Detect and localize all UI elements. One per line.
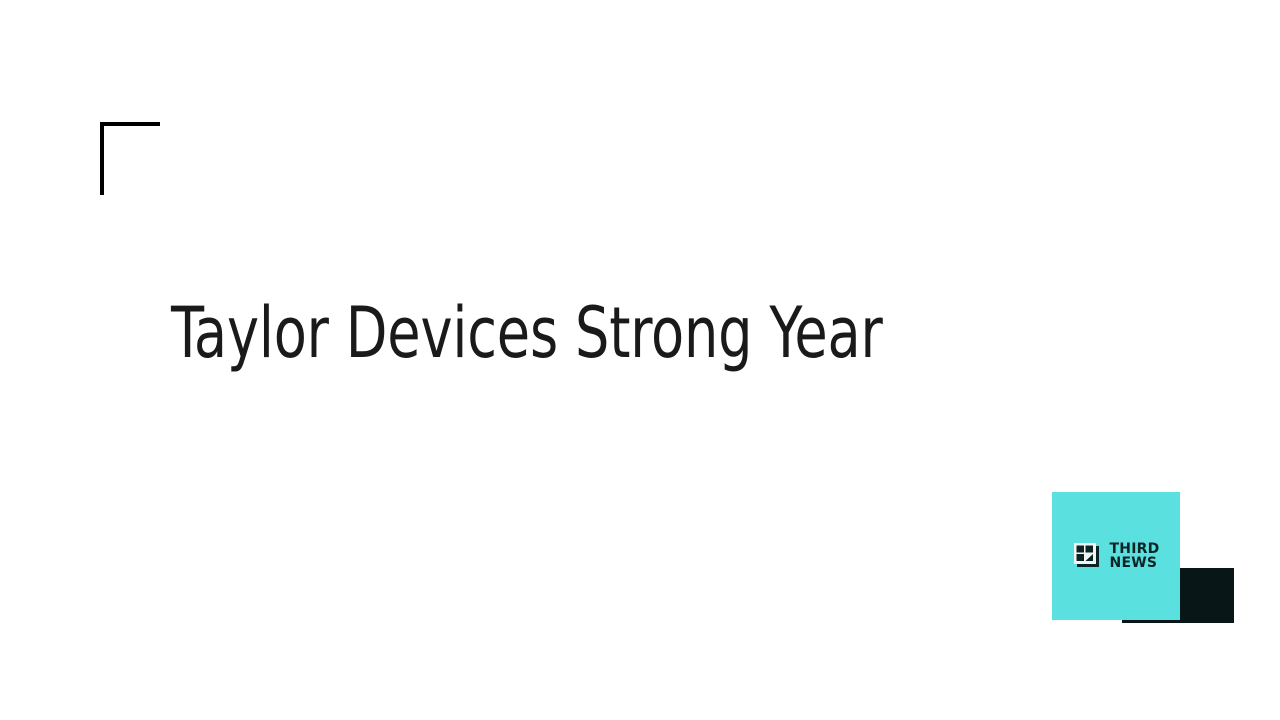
corner-bracket-decoration (100, 122, 160, 195)
slide-canvas: Taylor Devices Strong Year THIRD NEWS (0, 0, 1280, 720)
logo-content: THIRD NEWS (1052, 492, 1180, 620)
title-block: Taylor Devices Strong Year (171, 296, 1111, 372)
page-title: Taylor Devices Strong Year (171, 296, 979, 372)
logo-word-line1: THIRD (1110, 542, 1160, 556)
logo-badge: THIRD NEWS (1052, 492, 1180, 620)
logo-word-line2: NEWS (1110, 556, 1160, 570)
newspaper-window-icon (1073, 541, 1103, 571)
logo-wordmark: THIRD NEWS (1110, 542, 1160, 570)
